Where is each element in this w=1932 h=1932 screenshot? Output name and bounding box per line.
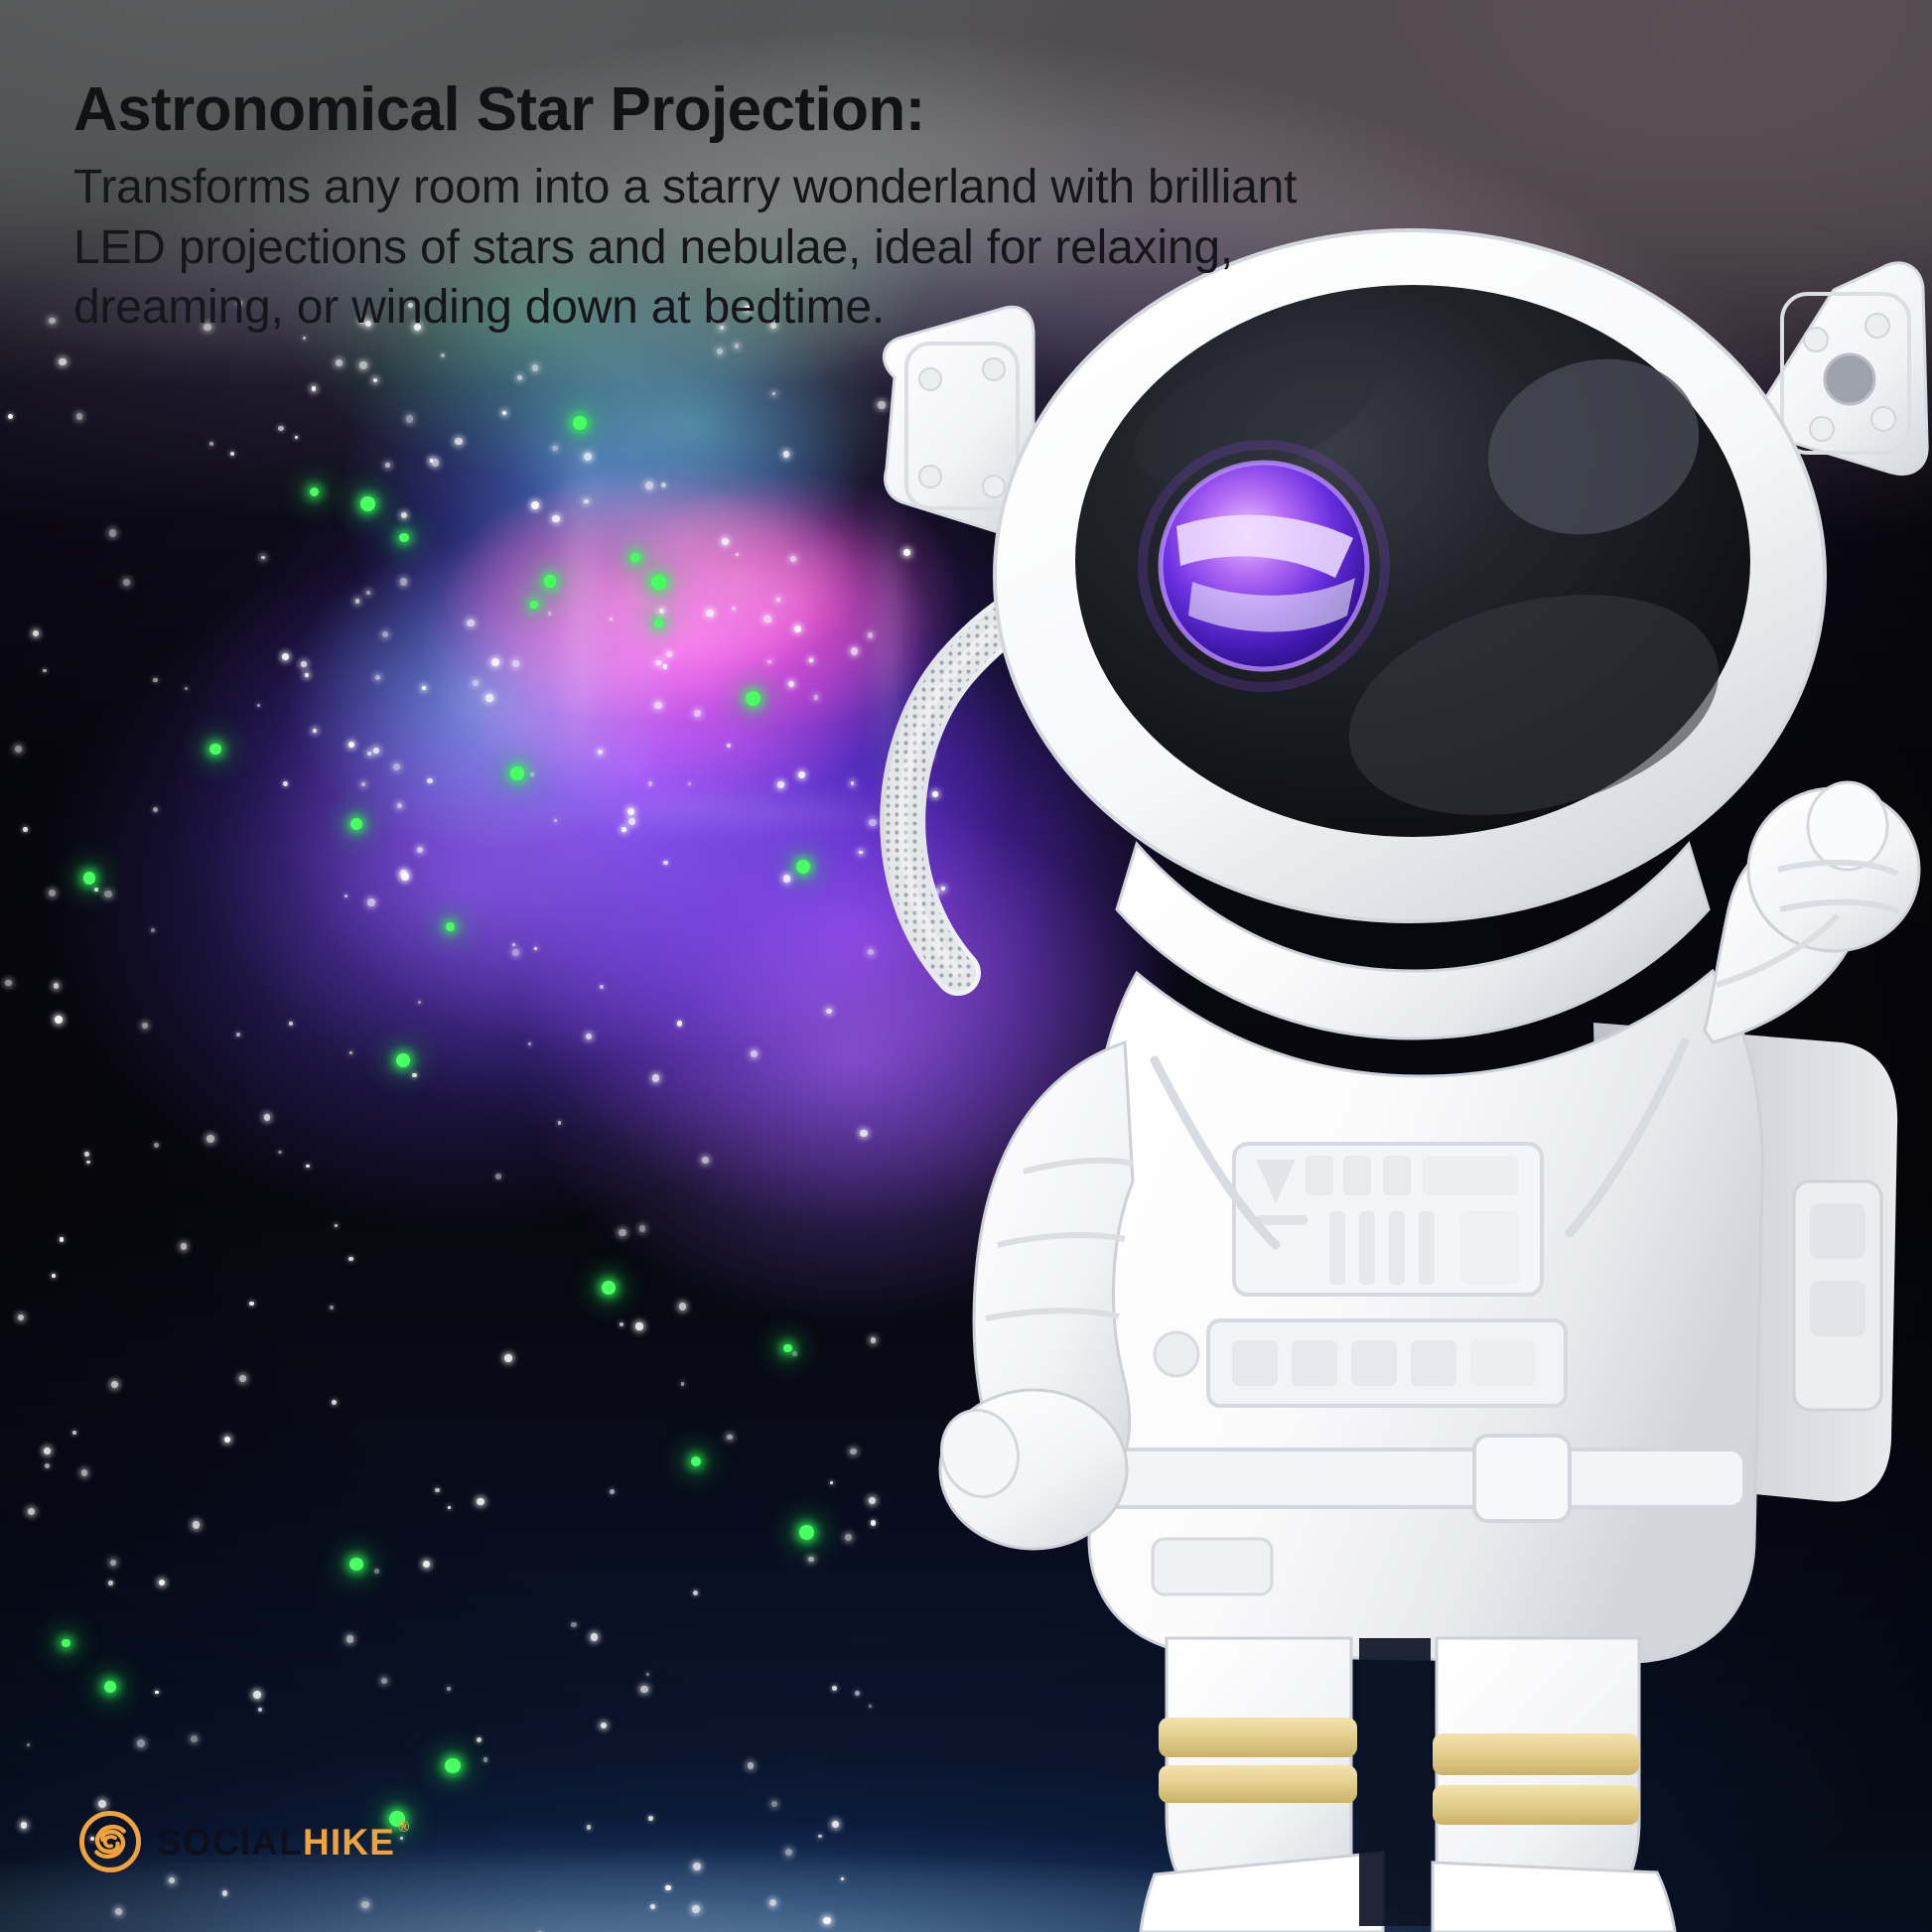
laser-star-point	[651, 575, 666, 590]
star-point	[610, 1489, 615, 1494]
star-point	[477, 1737, 482, 1742]
laser-star-point	[83, 872, 95, 884]
star-point	[666, 651, 672, 657]
star-point	[236, 1033, 240, 1036]
star-point	[652, 1074, 660, 1082]
star-point	[435, 1488, 439, 1492]
star-point	[191, 1735, 198, 1742]
star-point	[776, 598, 781, 603]
star-point	[722, 538, 729, 545]
star-point	[610, 618, 613, 621]
star-point	[808, 1557, 814, 1563]
star-point	[108, 1581, 112, 1585]
star-point	[27, 1743, 30, 1746]
star-point	[154, 1143, 159, 1148]
star-point	[94, 888, 99, 893]
star-point	[123, 579, 130, 586]
star-point	[249, 1302, 253, 1306]
star-point	[153, 678, 157, 682]
laser-star-point	[573, 416, 587, 430]
star-point	[818, 1835, 821, 1838]
star-point	[305, 673, 310, 678]
star-point	[55, 1016, 63, 1024]
star-point	[33, 630, 39, 636]
laser-star-point	[654, 619, 663, 627]
star-point	[512, 949, 519, 956]
star-point	[558, 1121, 561, 1124]
laser-star-point	[360, 496, 374, 510]
star-point	[239, 1375, 246, 1382]
star-point	[693, 1863, 701, 1870]
star-point	[18, 1314, 24, 1320]
star-point	[663, 664, 667, 668]
star-point	[306, 1165, 310, 1169]
star-point	[648, 781, 652, 785]
star-point	[763, 616, 770, 622]
star-point	[345, 895, 347, 897]
star-point	[21, 1822, 27, 1828]
star-point	[289, 1022, 293, 1026]
star-point	[278, 426, 283, 431]
left-knee-band-2	[1159, 1765, 1357, 1803]
laser-star-point	[446, 922, 455, 931]
star-point	[751, 1050, 758, 1057]
star-point	[406, 415, 414, 423]
star-point	[185, 687, 188, 690]
star-point	[193, 1521, 200, 1528]
star-point	[648, 1816, 652, 1820]
star-point	[554, 819, 557, 822]
star-point	[809, 658, 813, 662]
star-point	[366, 591, 370, 595]
star-point	[830, 1481, 833, 1484]
star-point	[620, 1322, 623, 1326]
star-point	[261, 556, 264, 559]
star-point	[28, 1508, 36, 1516]
star-point	[621, 827, 626, 832]
star-point	[393, 763, 400, 770]
star-point	[727, 1435, 733, 1441]
star-point	[359, 361, 366, 368]
star-point	[447, 1687, 451, 1691]
star-point	[59, 358, 67, 366]
star-point	[104, 891, 112, 898]
page-title: Astronomical Star Projection:	[73, 77, 1404, 142]
laser-star-point	[209, 744, 220, 755]
star-point	[548, 612, 552, 616]
star-point	[423, 1561, 430, 1568]
star-point	[502, 411, 506, 415]
laser-star-point	[396, 1053, 410, 1067]
star-point	[336, 359, 343, 366]
star-point	[142, 1023, 148, 1029]
star-point	[591, 1633, 599, 1641]
star-point	[432, 459, 440, 467]
star-point	[659, 609, 664, 614]
description-line-1: Transforms any room into a starry wonder…	[73, 158, 1404, 217]
star-point	[571, 1622, 576, 1627]
star-point	[628, 818, 635, 825]
star-point	[665, 1885, 670, 1890]
star-point	[517, 375, 522, 380]
star-point	[81, 1469, 88, 1476]
star-point	[661, 483, 666, 487]
registered-trademark-icon: ®	[398, 1820, 410, 1835]
astronaut-torso	[1089, 971, 1762, 1662]
star-point	[832, 1686, 837, 1691]
star-point	[783, 451, 790, 458]
star-point	[153, 807, 158, 812]
star-point	[528, 1042, 531, 1045]
star-point	[5, 980, 12, 987]
star-point	[692, 1905, 700, 1913]
laser-star-point	[350, 818, 362, 830]
star-point	[374, 1569, 379, 1574]
star-point	[702, 1157, 710, 1165]
laser-star-point	[62, 1639, 69, 1647]
star-point	[504, 1354, 512, 1362]
star-point	[767, 660, 770, 663]
star-point	[295, 436, 298, 439]
star-point	[224, 1437, 230, 1443]
star-point	[151, 928, 155, 932]
star-point	[49, 890, 56, 897]
star-point	[335, 1224, 338, 1227]
star-point	[783, 875, 791, 883]
star-point	[552, 446, 558, 452]
logo-word-hike: HIKE	[303, 1824, 395, 1861]
star-point	[52, 1274, 56, 1278]
star-point	[367, 898, 374, 905]
star-point	[485, 694, 493, 702]
laser-star-point	[399, 533, 408, 542]
star-point	[346, 1635, 353, 1642]
astronaut-left-arm	[931, 1042, 1133, 1549]
star-point	[412, 1073, 417, 1078]
star-point	[717, 348, 723, 354]
star-point	[207, 1135, 214, 1143]
description-line-2: LED projections of stars and nebulae, id…	[73, 218, 1404, 278]
star-point	[385, 463, 390, 468]
star-point	[681, 1382, 685, 1386]
star-point	[777, 781, 784, 788]
astronaut-right-fist	[1748, 782, 1919, 951]
star-point	[400, 870, 407, 877]
star-point	[771, 1801, 777, 1807]
description-line-3: dreaming, or winding down at bedtime.	[73, 278, 1404, 338]
star-point	[645, 482, 653, 489]
star-point	[375, 675, 380, 680]
star-point	[534, 947, 537, 950]
star-point	[72, 1431, 76, 1435]
laser-star-point	[746, 691, 760, 706]
star-point	[748, 1762, 754, 1768]
star-point	[44, 1448, 51, 1454]
star-point	[76, 413, 82, 419]
star-point	[584, 453, 592, 461]
star-point	[512, 660, 519, 667]
star-point	[330, 1306, 334, 1310]
laser-star-point	[445, 1758, 461, 1774]
star-point	[381, 1678, 387, 1684]
star-point	[348, 742, 355, 749]
socialhike-spiral-logo-icon	[79, 1811, 141, 1872]
star-point	[349, 1051, 352, 1054]
laser-star-point	[349, 1558, 363, 1572]
star-point	[60, 1237, 65, 1242]
star-point	[111, 1381, 118, 1388]
star-point	[512, 943, 515, 946]
helmet-port-icon	[1825, 354, 1874, 404]
star-point	[278, 1151, 281, 1154]
star-point	[43, 669, 47, 673]
star-point	[552, 515, 559, 522]
star-point	[455, 438, 463, 446]
star-point	[15, 746, 22, 753]
chest-control-panel	[1234, 1144, 1542, 1295]
star-point	[530, 772, 534, 776]
right-knee-band	[1433, 1733, 1639, 1775]
star-point	[772, 392, 775, 395]
star-point	[355, 599, 359, 603]
star-point	[473, 680, 479, 686]
star-point	[736, 553, 740, 557]
star-point	[677, 1021, 682, 1026]
star-point	[332, 1400, 337, 1405]
star-point	[367, 752, 372, 757]
star-point	[401, 873, 409, 881]
star-point	[792, 1351, 797, 1356]
star-point	[656, 660, 660, 664]
star-point	[679, 1303, 686, 1310]
star-point	[826, 1009, 832, 1015]
star-point	[312, 386, 316, 390]
star-point	[361, 1901, 368, 1908]
laser-star-point	[799, 1525, 814, 1540]
laser-star-point	[530, 601, 538, 609]
star-point	[169, 1877, 175, 1883]
description-text: Transforms any room into a starry wonder…	[73, 158, 1404, 338]
logo-word-social: SOCIAL	[157, 1824, 303, 1861]
star-point	[601, 1723, 607, 1728]
star-point	[373, 748, 379, 754]
star-point	[230, 452, 234, 456]
astronaut-right-arm-raised	[1705, 782, 1919, 1042]
star-point	[467, 620, 474, 626]
laser-star-point	[510, 766, 523, 779]
star-point	[735, 344, 739, 347]
star-point	[531, 501, 539, 509]
star-point	[397, 803, 402, 808]
star-point	[627, 808, 634, 815]
star-point	[694, 710, 700, 716]
astronaut-left-hand	[931, 1390, 1127, 1549]
star-point	[584, 499, 589, 504]
star-point	[650, 1904, 655, 1909]
right-boot	[1433, 1863, 1675, 1932]
star-point	[401, 512, 407, 518]
star-point	[49, 318, 55, 324]
star-point	[348, 1257, 352, 1261]
promo-image-canvas: Astronomical Star Projection: Transforms…	[0, 0, 1932, 1932]
star-point	[222, 1890, 227, 1895]
star-point	[418, 1001, 421, 1004]
laser-star-point	[602, 1281, 616, 1295]
star-point	[598, 750, 604, 756]
laser-star-point	[691, 1456, 701, 1466]
laser-star-point	[310, 487, 319, 496]
star-point	[798, 771, 805, 778]
star-point	[313, 729, 317, 733]
star-point	[54, 983, 60, 989]
star-point	[727, 744, 732, 749]
laser-star-point	[783, 1344, 791, 1352]
star-point	[693, 1590, 698, 1595]
star-point	[640, 1686, 647, 1693]
laser-star-point	[104, 1681, 116, 1693]
star-point	[600, 985, 604, 989]
star-point	[282, 653, 289, 660]
marketing-copy-block: Astronomical Star Projection: Transforms…	[73, 77, 1404, 339]
star-point	[654, 702, 661, 709]
star-point	[301, 661, 306, 666]
star-point	[635, 1322, 642, 1329]
star-point	[181, 1243, 187, 1249]
star-point	[532, 364, 538, 370]
star-point	[477, 1498, 483, 1505]
star-point	[155, 1691, 159, 1695]
star-point	[422, 686, 426, 690]
star-point	[427, 778, 432, 783]
star-point	[794, 625, 801, 632]
star-point	[823, 1917, 831, 1925]
star-point	[373, 378, 377, 382]
star-point	[491, 658, 499, 666]
projector-lens	[1143, 445, 1385, 687]
star-point	[98, 1800, 106, 1808]
star-point	[448, 1506, 451, 1509]
star-point	[23, 827, 28, 832]
star-point	[400, 578, 407, 585]
star-point	[814, 695, 819, 700]
star-point	[586, 1034, 592, 1039]
star-point	[361, 782, 365, 786]
star-point	[109, 529, 117, 537]
star-point	[159, 1580, 165, 1586]
star-point	[264, 1114, 270, 1120]
star-point	[769, 1899, 776, 1906]
star-point	[110, 1560, 116, 1566]
star-point	[283, 781, 288, 786]
star-point	[209, 442, 213, 446]
star-point	[619, 1229, 625, 1236]
star-point	[706, 610, 714, 618]
star-point	[441, 353, 445, 357]
star-point	[84, 1152, 89, 1157]
star-point	[430, 459, 434, 463]
laser-star-point	[630, 553, 640, 563]
star-point	[253, 1691, 261, 1699]
star-point	[688, 782, 691, 785]
laser-star-point	[796, 860, 810, 874]
socialhike-logo[interactable]: SOCIALHIKE®	[79, 1811, 410, 1872]
star-point	[8, 414, 13, 419]
star-point	[663, 861, 668, 866]
star-point	[587, 1825, 592, 1830]
astronaut-star-projector-product	[839, 149, 1932, 1932]
star-point	[115, 1908, 122, 1915]
star-point	[788, 681, 794, 687]
astronaut-legs	[1141, 1638, 1675, 1932]
star-point	[790, 556, 796, 562]
star-point	[495, 1173, 501, 1179]
star-point	[45, 1463, 50, 1468]
star-point	[732, 607, 736, 611]
star-point	[86, 1161, 90, 1165]
star-point	[382, 631, 388, 637]
star-point	[639, 1225, 646, 1232]
star-point	[137, 1739, 145, 1747]
star-point	[785, 1849, 792, 1856]
logo-wordmark: SOCIALHIKE®	[157, 1824, 410, 1861]
star-point	[258, 1708, 262, 1712]
star-point	[417, 847, 423, 853]
star-point	[257, 704, 260, 707]
star-point	[483, 1757, 487, 1761]
left-knee-band	[1159, 1718, 1357, 1757]
laser-star-point	[544, 575, 557, 588]
star-point	[646, 1673, 649, 1676]
chest-utility-strip	[1155, 1320, 1566, 1406]
right-knee-band-2	[1433, 1785, 1639, 1825]
